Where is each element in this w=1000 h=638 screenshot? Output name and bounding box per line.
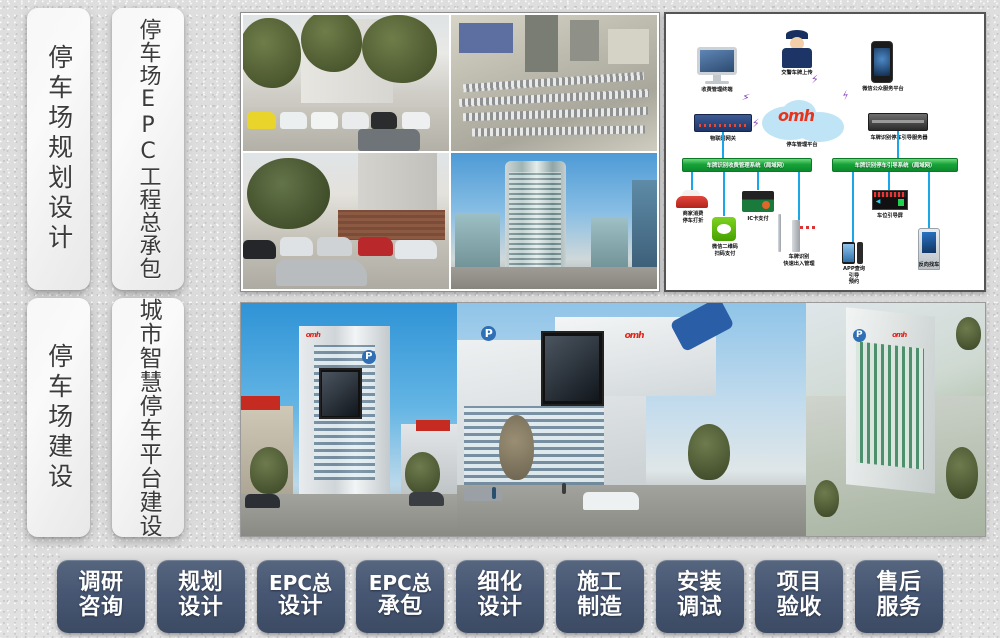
diagram-leaf-label-lpr-gate: 车牌识别 快速出入管理 [770,254,828,267]
render-billboard [319,368,362,419]
process-step-installation-commissioning[interactable]: 安装 调试 [656,560,744,633]
photo-building [570,20,599,61]
parking-badge-icon: P [481,326,496,341]
render-car [464,487,502,501]
photo-car-row [463,71,644,92]
render-tree [946,447,978,498]
sidebar-card-parking-epc-contracting[interactable]: 停车场EPC工程总承包 [112,8,184,290]
process-step-epc-design[interactable]: EPC总 设计 [257,560,345,633]
process-step-line2: 制造 [577,596,622,621]
diagram-connector [757,172,759,190]
app-phone-icon [842,242,855,264]
sidebar-card-smart-parking-platform[interactable]: 城市智慧停车平台建设 [112,298,184,537]
photo-building [455,213,500,273]
photo-building [608,29,649,64]
app-phone-screen [843,244,853,262]
sidebar-card-parking-construction[interactable]: 停车场建设 [27,298,90,537]
process-step-line1: 细化 [477,571,522,596]
process-step-detailed-design[interactable]: 细化 设计 [456,560,544,633]
render-red-sign [241,396,280,410]
photo-car [317,237,352,256]
photo-car [243,240,276,259]
process-step-line2: 设计 [178,596,223,621]
diagram-cloud-label: 停车管理平台 [762,142,842,149]
phone-screen [874,48,891,77]
sidebar-card-label: 城市智慧停车平台建设 [136,298,160,538]
photo-car-row [459,89,649,107]
photo-collage-panel [240,12,660,292]
process-step-construction-manufacturing[interactable]: 施工 制造 [556,560,644,633]
render-glass-facade [856,341,924,469]
render-red-sign [416,420,451,432]
smartphone-icon [871,41,893,83]
omh-logo: omh [306,331,320,339]
photo-car [276,259,367,286]
monitor-icon [697,47,737,75]
render-car [583,492,639,511]
render-glass-facade [464,406,604,485]
photo-building [632,180,657,270]
photo-highrise [505,161,567,270]
monitor-base-icon [705,81,729,84]
rendering-garage-aerial: omh P [806,303,985,536]
guidance-arrow-icon: ◀ [876,199,881,205]
render-person [562,483,566,494]
process-step-line2: 设计 [477,596,522,621]
photo-car-row [472,125,645,136]
render-tree [250,447,289,494]
photo-aerial-lot [451,15,657,151]
photo-tree [243,18,301,89]
photo-car [280,112,307,130]
process-step-line1: 调研 [78,571,123,596]
process-step-after-sales-service[interactable]: 售后 服务 [855,560,943,633]
ic-card-chip-icon [762,201,770,209]
sidebar-card-label: 停车场建设 [45,343,71,493]
omh-logo: omh [625,331,644,341]
process-step-line1: 项目 [777,571,822,596]
process-step-project-acceptance[interactable]: 项目 验收 [755,560,843,633]
process-step-line1: EPC总 [269,572,332,594]
photo-car [358,237,393,256]
diagram-connector [722,132,724,158]
diagram-leaf-label-guidance-display: 车位引导屏 [864,213,916,220]
process-step-line1: 安装 [677,571,722,596]
barrier-gate-icon [792,220,800,252]
police-body-icon [782,48,812,68]
rendering-panel: omh P omh P omh P [240,302,986,537]
diagram-connector [897,131,899,158]
render-tree [405,452,440,494]
guidance-count-indicator [898,199,904,207]
guidance-display-icon: ◀ [872,190,908,210]
photo-car [395,240,436,259]
process-step-line2: 承包 [378,595,423,620]
process-step-line1: 施工 [577,571,622,596]
omh-logo: omh [892,331,906,339]
guidance-display-header [874,192,905,197]
kiosk-screen [922,232,936,253]
diagram-connector [928,172,930,228]
lightning-connector-icon: ⚡ [741,91,751,104]
server-icon [868,113,928,131]
diagram-leaf-label-ic-card: IC卡支付 [734,216,782,223]
wechat-icon [712,217,736,241]
rendering-garage-street: omh P [457,303,807,536]
process-steps-bar: 调研 咨询 规划 设计 EPC总 设计 EPC总 承包 细化 设计 施工 制造 … [57,557,943,635]
diagram-node-label-wechat-platform: 微信公众服务平台 [852,86,914,93]
process-step-line1: 售后 [876,571,921,596]
lightning-connector-icon: ⚡ [810,74,819,86]
diagram-leaf-label-find-car: 反向找车 [906,262,952,269]
photo-car [247,112,276,130]
photo-car [371,112,398,130]
process-step-line2: 设计 [278,595,323,620]
gateway-icon [694,114,752,132]
omh-logo: omh [778,106,814,125]
ic-card-icon [742,191,774,212]
photo-lot-brick-building [243,153,449,289]
sidebar-card-label: 停车场规划设计 [45,44,71,254]
photo-car [311,112,338,130]
system-bar-label: 车牌识别收费管理系统（局域网） [707,161,788,169]
render-billboard-image [322,372,358,416]
diagram-connector [798,172,800,220]
photo-car [358,129,420,151]
rendering-garage-front: omh P [241,303,457,536]
diagram-system-bar-guidance: 车牌识别停车引导系统（局域网） [832,158,958,172]
parking-badge-icon: P [362,350,376,364]
render-car [409,492,444,506]
render-car [245,494,280,508]
process-step-line1: 规划 [178,571,223,596]
diagram-connector [888,172,890,190]
photo-building [525,15,558,72]
photo-car [342,112,369,130]
sidebar-card-parking-planning-design[interactable]: 停车场规划设计 [27,8,90,290]
lightning-connector-icon: ⚡ [751,118,760,130]
lightning-connector-icon: ⚡ [840,89,852,102]
photo-car [280,237,313,256]
process-step-research-consulting[interactable]: 调研 咨询 [57,560,145,633]
diagram-system-bar-toll: 车牌识别收费管理系统（局域网） [682,158,812,172]
photo-car-row [463,107,649,122]
render-billboard [541,331,604,406]
diagram-node-label-terminal: 收费管理终端 [686,87,748,94]
render-person [492,487,496,499]
barrier-arm-icon [800,226,816,229]
process-step-epc-contracting[interactable]: EPC总 承包 [356,560,444,633]
diagram-connector [852,172,854,242]
process-step-line1: EPC总 [369,572,432,594]
diagram-leaf-label-wechat-qr: 微信二维码 扫码支付 [697,244,753,257]
system-architecture-diagram: omh 停车管理平台 收费管理终端 交警车牌上传 微信公众服务平台 物联网网关 … [664,12,986,292]
photo-street-parking [243,15,449,151]
process-step-planning-design[interactable]: 规划 设计 [157,560,245,633]
process-step-line2: 调试 [677,596,722,621]
render-tree [499,415,534,480]
photo-tree [247,158,329,229]
diagram-leaf-label-app: APP查询 引导 预约 [826,266,882,286]
render-tree [956,317,981,350]
diagram-node-label-police: 交警车牌上传 [766,70,828,77]
parking-badge-icon: P [853,329,866,342]
diagram-leaf-label-discount: 商家消费 停车打折 [668,211,718,224]
photo-building [591,218,628,272]
photo-tree [362,15,436,83]
photo-building [459,23,513,53]
render-tree [814,480,839,517]
barrier-camera-pole-icon [778,214,781,252]
photo-ground [451,267,657,289]
red-car-icon [676,196,708,208]
process-step-line2: 咨询 [78,596,123,621]
sidebar-card-label: 停车场EPC工程总承包 [136,18,159,280]
photo-glass-highrise [451,153,657,289]
diagram-connector [691,172,693,190]
process-step-line2: 服务 [876,596,921,621]
system-bar-label: 车牌识别停车引导系统（局域网） [855,161,936,169]
diagram-connector [723,172,725,216]
photo-car [402,112,431,130]
render-tree [688,424,730,480]
render-billboard-image [545,336,599,401]
process-step-line2: 验收 [777,596,822,621]
diagram-node-label-server: 车牌识别停车引导服务器 [860,135,938,142]
person-icon [857,242,863,264]
